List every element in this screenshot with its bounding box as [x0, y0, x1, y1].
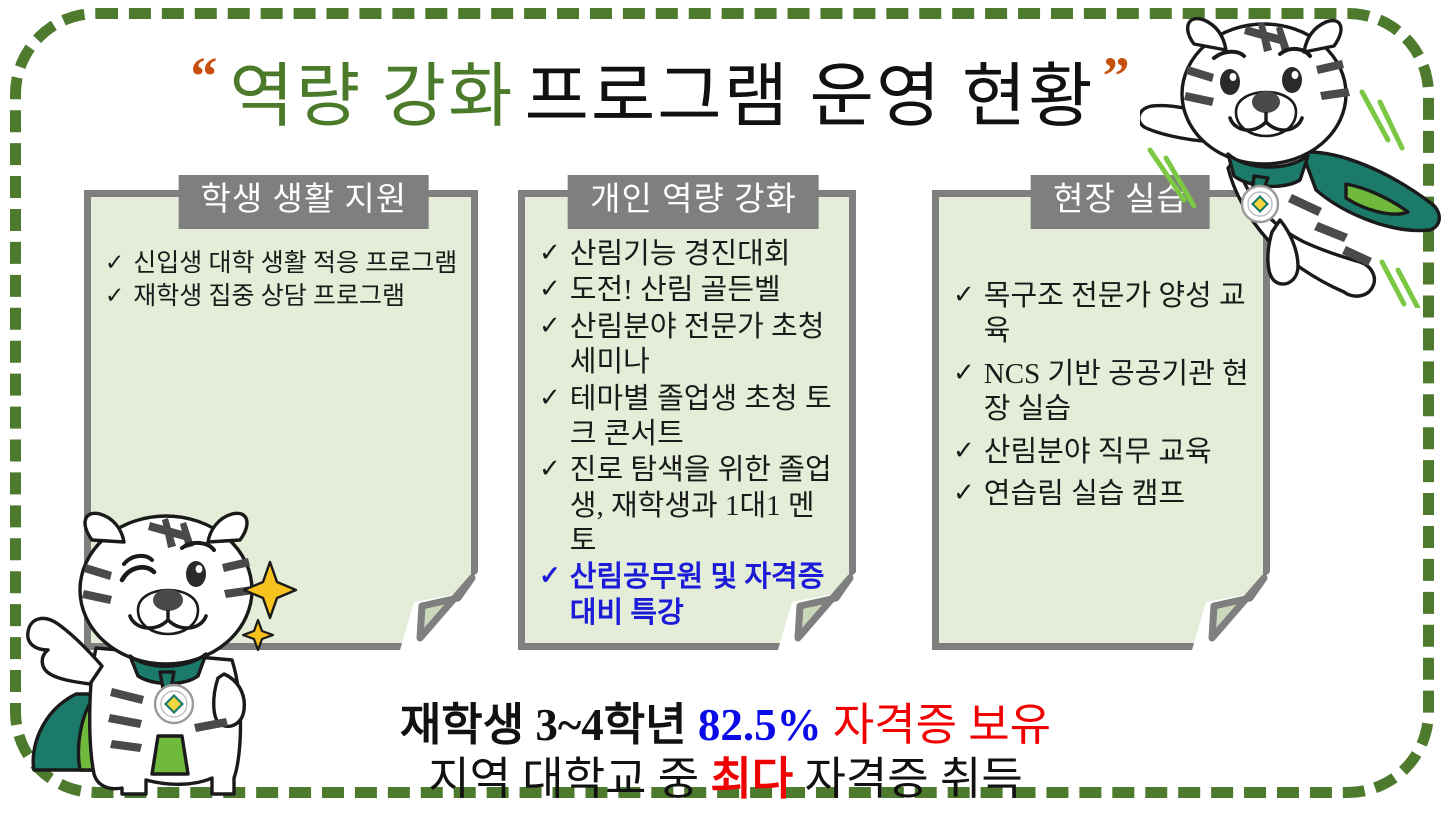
card2-list: ✓ 산림기능 경진대회 ✓ 도전! 산림 골든벨 ✓ 산림분야 전문가 초청 세… — [539, 237, 839, 631]
stat-line2-suffix: 자격증 취득 — [804, 754, 1022, 804]
list-item-label: 진로 탐색을 위한 졸업생, 재학생과 1대1 멘토 — [570, 453, 839, 559]
folded-corner-icon — [400, 572, 478, 650]
check-icon: ✓ — [953, 477, 975, 509]
stat-line2-prefix: 지역 대학교 중 — [428, 754, 699, 804]
list-item: ✓ 목구조 전문가 양성 교육 — [953, 279, 1253, 350]
card-individual-competency: 개인 역량 강화 ✓ 산림기능 경진대회 ✓ 도전! 산림 골든벨 ✓ 산림분야… — [518, 190, 856, 650]
check-icon: ✓ — [539, 560, 561, 592]
list-item-label: 도전! 산림 골든벨 — [570, 273, 781, 308]
title-black-text: 프로그램 운영 현황 — [524, 40, 1094, 141]
title-green-text: 역량 강화 — [229, 40, 514, 141]
list-item-label: 산림분야 전문가 초청 세미나 — [570, 310, 839, 381]
list-item: ✓ NCS 기반 공공기관 현장 실습 — [953, 357, 1253, 428]
folded-corner-icon — [1192, 572, 1270, 650]
list-item: ✓ 산림기능 경진대회 — [539, 237, 839, 272]
check-icon: ✓ — [539, 273, 561, 305]
infographic-canvas: “ 역량 강화 프로그램 운영 현황 ” 학생 생활 지원 ✓ 신입생 대학 생… — [0, 0, 1451, 814]
list-item: ✓ 산림분야 전문가 초청 세미나 — [539, 310, 839, 381]
list-item-label: 테마별 졸업생 초청 토크 콘서트 — [570, 382, 839, 453]
card1-list: ✓ 신입생 대학 생활 적응 프로그램 ✓ 재학생 집중 상담 프로그램 — [105, 249, 461, 312]
check-icon: ✓ — [105, 282, 124, 310]
list-item-label: 연습림 실습 캠프 — [984, 477, 1185, 512]
list-item: ✓ 재학생 집중 상담 프로그램 — [105, 282, 461, 313]
page-title: “ 역량 강화 프로그램 운영 현황 ” — [120, 44, 1200, 136]
list-item: ✓ 산림분야 직무 교육 — [953, 435, 1253, 470]
list-item-label: 산림공무원 및 자격증 대비 특강 — [570, 560, 839, 631]
check-icon: ✓ — [539, 382, 561, 414]
list-item-label: 산림분야 직무 교육 — [984, 435, 1212, 470]
card3-header: 현장 실습 — [1031, 175, 1210, 229]
list-item: ✓ 도전! 산림 골든벨 — [539, 273, 839, 308]
check-icon: ✓ — [539, 453, 561, 485]
card2-header: 개인 역량 강화 — [568, 175, 819, 229]
stat-superlative: 최다 — [710, 754, 793, 804]
card1-body: ✓ 신입생 대학 생활 적응 프로그램 ✓ 재학생 집중 상담 프로그램 — [91, 249, 471, 314]
list-item: ✓ 신입생 대학 생활 적응 프로그램 — [105, 249, 461, 280]
card3-body: ✓ 목구조 전문가 양성 교육 ✓ NCS 기반 공공기관 현장 실습 ✓ 산림… — [939, 279, 1263, 519]
list-item-label: NCS 기반 공공기관 현장 실습 — [984, 357, 1253, 428]
list-item: ✓ 진로 탐색을 위한 졸업생, 재학생과 1대1 멘토 — [539, 453, 839, 559]
open-quote-mark: “ — [190, 49, 217, 103]
check-icon: ✓ — [953, 279, 975, 311]
list-item-highlighted: ✓ 산림공무원 및 자격증 대비 특강 — [539, 560, 839, 631]
card1-header: 학생 생활 지원 — [178, 175, 429, 229]
check-icon: ✓ — [539, 310, 561, 342]
stat-line-2: 지역 대학교 중 최다 자격증 취득 — [0, 742, 1451, 807]
list-item-label: 재학생 집중 상담 프로그램 — [133, 282, 405, 313]
check-icon: ✓ — [539, 237, 561, 269]
close-quote-mark: ” — [1103, 49, 1130, 103]
card-field-practice: 현장 실습 ✓ 목구조 전문가 양성 교육 ✓ NCS 기반 공공기관 현장 실… — [932, 190, 1270, 650]
check-icon: ✓ — [953, 435, 975, 467]
card2-body: ✓ 산림기능 경진대회 ✓ 도전! 산림 골든벨 ✓ 산림분야 전문가 초청 세… — [525, 237, 849, 632]
card-student-life-support: 학생 생활 지원 ✓ 신입생 대학 생활 적응 프로그램 ✓ 재학생 집중 상담… — [84, 190, 478, 650]
check-icon: ✓ — [953, 357, 975, 389]
list-item-label: 신입생 대학 생활 적응 프로그램 — [133, 249, 457, 280]
list-item-label: 목구조 전문가 양성 교육 — [984, 279, 1253, 350]
list-item: ✓ 연습림 실습 캠프 — [953, 477, 1253, 512]
check-icon: ✓ — [105, 249, 124, 277]
list-item-label: 산림기능 경진대회 — [570, 237, 791, 272]
list-item: ✓ 테마별 졸업생 초청 토크 콘서트 — [539, 382, 839, 453]
card3-list: ✓ 목구조 전문가 양성 교육 ✓ NCS 기반 공공기관 현장 실습 ✓ 산림… — [953, 279, 1253, 512]
